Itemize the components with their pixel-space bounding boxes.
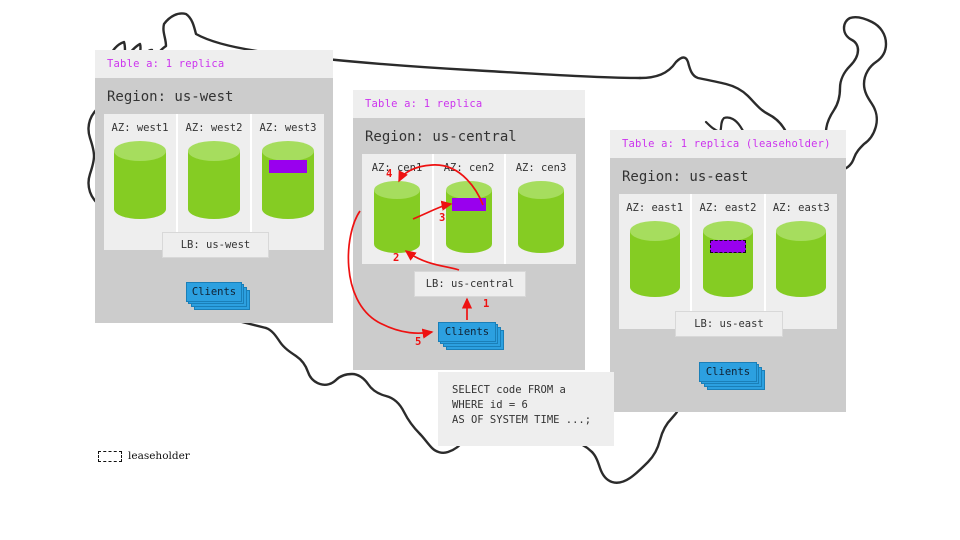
arrow-label-3: 3 (439, 212, 445, 224)
node-cylinder-east1[interactable] (630, 221, 680, 297)
region-us-west-title: Region: us-west (95, 78, 333, 114)
az-west1-label: AZ: west1 (112, 114, 169, 141)
az-east2-label: AZ: east2 (700, 194, 757, 221)
clients-us-east-label: Clients (706, 366, 750, 378)
region-us-west-banner: Table a: 1 replica (95, 50, 333, 78)
clients-us-west-label: Clients (192, 286, 236, 298)
node-cylinder-cen2[interactable] (446, 181, 492, 253)
clients-us-west[interactable]: Clients (186, 282, 254, 312)
node-cylinder-west3[interactable] (262, 141, 314, 219)
region-us-east-az-row: AZ: east1 AZ: east2 AZ: east3 (619, 194, 837, 329)
az-cen1[interactable]: AZ: cen1 (362, 154, 434, 264)
az-west3[interactable]: AZ: west3 (252, 114, 324, 250)
az-cen2[interactable]: AZ: cen2 (434, 154, 506, 264)
az-east1-label: AZ: east1 (626, 194, 683, 221)
az-cen1-label: AZ: cen1 (372, 154, 423, 181)
az-cen3-label: AZ: cen3 (516, 154, 567, 181)
sql-query-box: SELECT code FROM a WHERE id = 6 AS OF SY… (438, 372, 614, 446)
lb-us-west[interactable]: LB: us-west (162, 232, 269, 258)
region-us-east-banner: Table a: 1 replica (leaseholder) (610, 130, 846, 158)
lb-us-west-label: LB: us-west (181, 239, 251, 251)
lb-us-central[interactable]: LB: us-central (414, 271, 526, 297)
arrow-label-4: 4 (386, 168, 392, 180)
az-east3-label: AZ: east3 (773, 194, 830, 221)
node-cylinder-west1[interactable] (114, 141, 166, 219)
clients-us-east[interactable]: Clients (699, 362, 769, 392)
node-cylinder-cen3[interactable] (518, 181, 564, 253)
replica-west3[interactable] (269, 160, 307, 173)
lb-us-central-label: LB: us-central (426, 278, 515, 290)
node-cylinder-west2[interactable] (188, 141, 240, 219)
az-east2[interactable]: AZ: east2 (692, 194, 765, 329)
legend-label: leaseholder (128, 450, 190, 462)
clients-us-central-label: Clients (445, 326, 489, 338)
arrow-label-2: 2 (393, 252, 399, 264)
lb-us-east-label: LB: us-east (694, 318, 764, 330)
region-us-central-az-row: AZ: cen1 AZ: cen2 AZ: cen3 (362, 154, 576, 264)
node-cylinder-cen1[interactable] (374, 181, 420, 253)
az-cen2-label: AZ: cen2 (444, 154, 495, 181)
az-east3[interactable]: AZ: east3 (766, 194, 837, 329)
region-us-central-banner: Table a: 1 replica (353, 90, 585, 118)
arrow-label-1: 1 (483, 298, 489, 310)
az-east1[interactable]: AZ: east1 (619, 194, 692, 329)
az-west2[interactable]: AZ: west2 (178, 114, 252, 250)
node-cylinder-east2[interactable] (703, 221, 753, 297)
diagram-canvas: Table a: 1 replica Region: us-west AZ: w… (0, 0, 960, 540)
arrow-label-5: 5 (415, 336, 421, 348)
az-west3-label: AZ: west3 (260, 114, 317, 141)
legend: leaseholder (98, 450, 190, 462)
region-us-east-title: Region: us-east (610, 158, 846, 194)
replica-east2-leaseholder[interactable] (710, 240, 746, 253)
az-cen3[interactable]: AZ: cen3 (506, 154, 576, 264)
az-west2-label: AZ: west2 (186, 114, 243, 141)
lb-us-east[interactable]: LB: us-east (675, 311, 783, 337)
replica-cen2[interactable] (452, 198, 486, 211)
region-us-central-title: Region: us-central (353, 118, 585, 154)
node-cylinder-east3[interactable] (776, 221, 826, 297)
region-us-west-az-row: AZ: west1 AZ: west2 AZ: west3 (104, 114, 324, 250)
clients-us-central[interactable]: Clients (438, 322, 508, 352)
az-west1[interactable]: AZ: west1 (104, 114, 178, 250)
leaseholder-swatch-icon (98, 451, 122, 462)
